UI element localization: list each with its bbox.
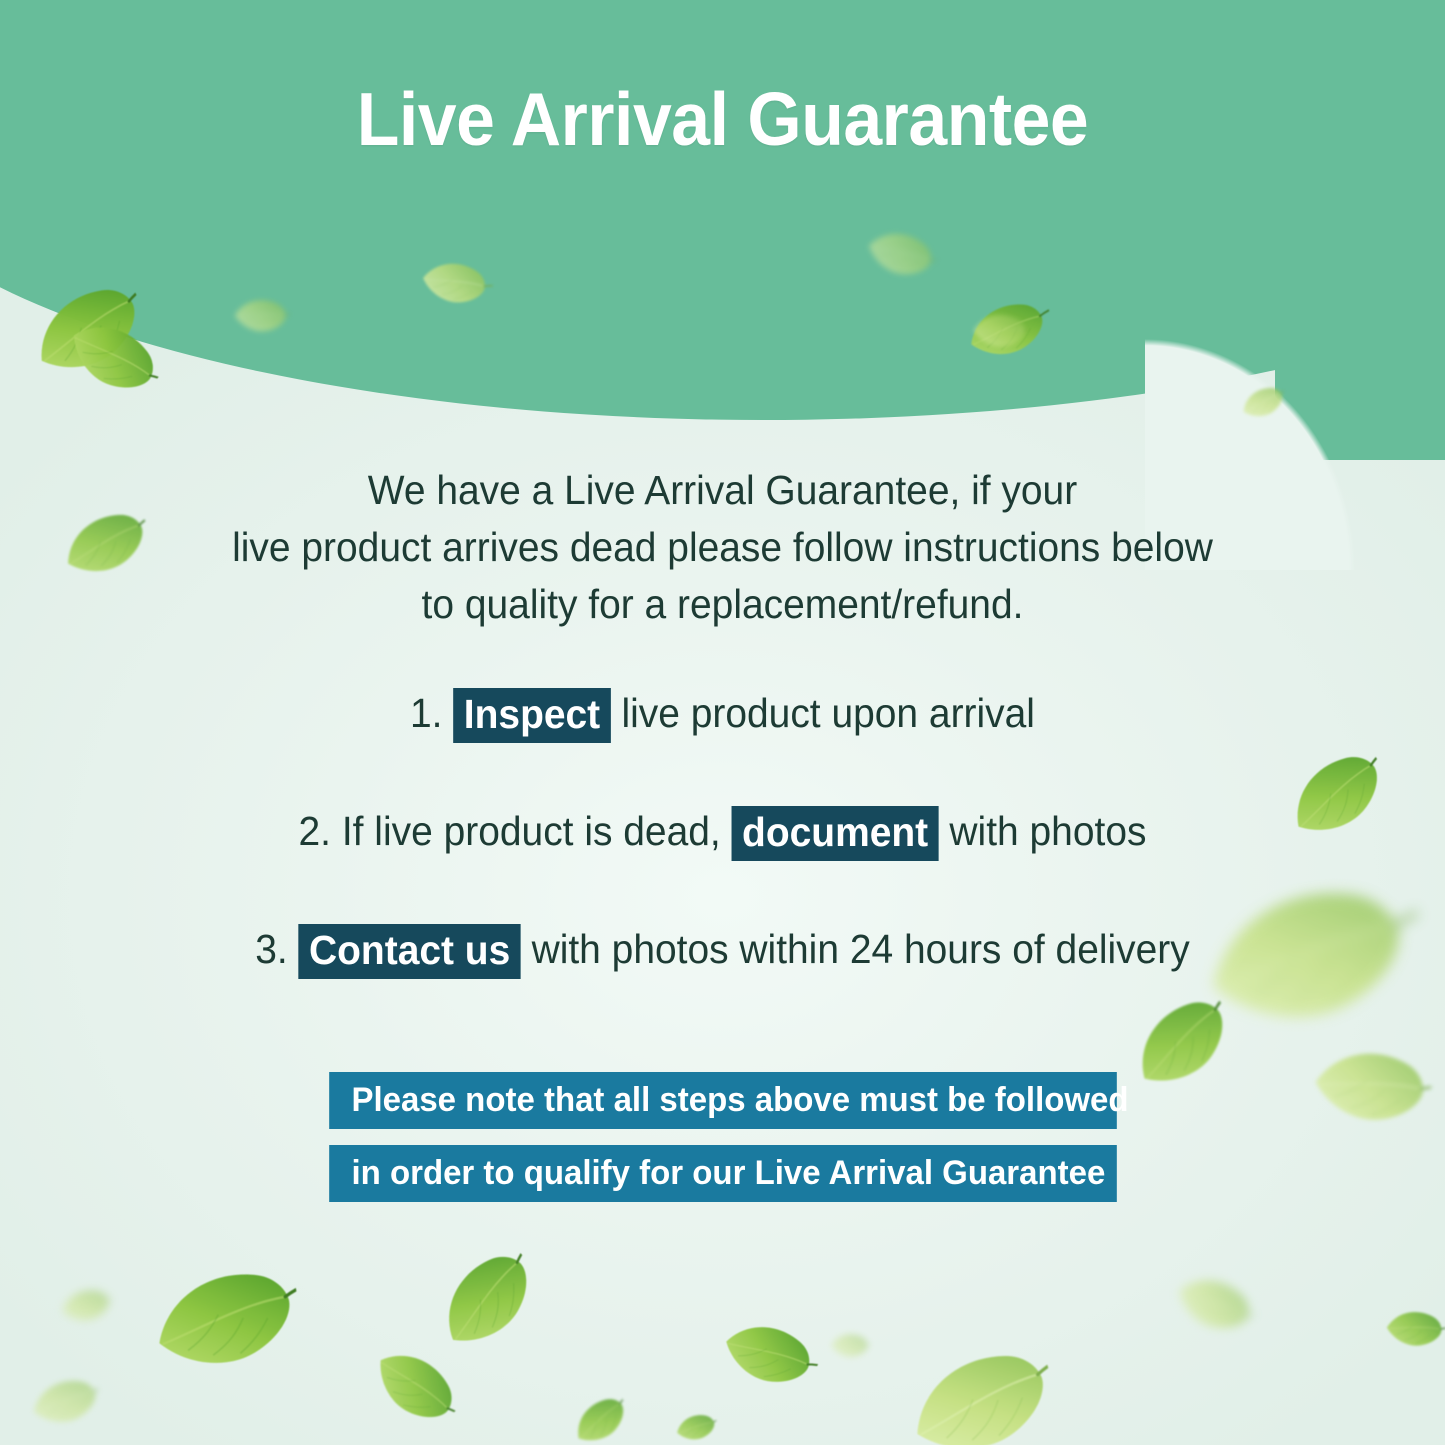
intro-line-1: We have a Live Arrival Guarantee, if you…: [36, 462, 1409, 519]
step-2-after-text: with photos: [949, 808, 1146, 854]
note-banner-line-1: Please note that all steps above must be…: [329, 1072, 1117, 1129]
step-2-before-text: If live product is dead,: [342, 808, 721, 854]
steps-list: 1. Inspect live product upon arrival 2. …: [0, 686, 1445, 978]
page-title: Live Arrival Guarantee: [51, 76, 1395, 162]
live-arrival-guarantee-poster: Live Arrival Guarantee We have a Live Ar…: [0, 0, 1445, 1445]
intro-line-2: live product arrives dead please follow …: [36, 519, 1409, 576]
step-3-highlight: Contact us: [299, 924, 521, 979]
step-3-after-text: with photos within 24 hours of delivery: [532, 926, 1190, 972]
step-1-after-text: live product upon arrival: [621, 690, 1035, 736]
intro-paragraph: We have a Live Arrival Guarantee, if you…: [36, 462, 1409, 633]
step-1-highlight: Inspect: [453, 688, 610, 743]
step-item-3: 3. Contact us with photos within 24 hour…: [36, 922, 1409, 978]
step-2-highlight: document: [732, 806, 939, 861]
step-1-number: 1.: [410, 690, 442, 736]
intro-line-3: to quality for a replacement/refund.: [36, 576, 1409, 633]
notes-section: Please note that all steps above must be…: [0, 1072, 1445, 1202]
step-2-number: 2.: [299, 808, 331, 854]
step-item-1: 1. Inspect live product upon arrival: [36, 686, 1409, 742]
poster-content: We have a Live Arrival Guarantee, if you…: [0, 0, 1445, 1445]
step-item-2: 2. If live product is dead, document wit…: [36, 804, 1409, 860]
note-banner-line-2: in order to qualify for our Live Arrival…: [329, 1145, 1117, 1202]
step-3-number: 3.: [255, 926, 287, 972]
